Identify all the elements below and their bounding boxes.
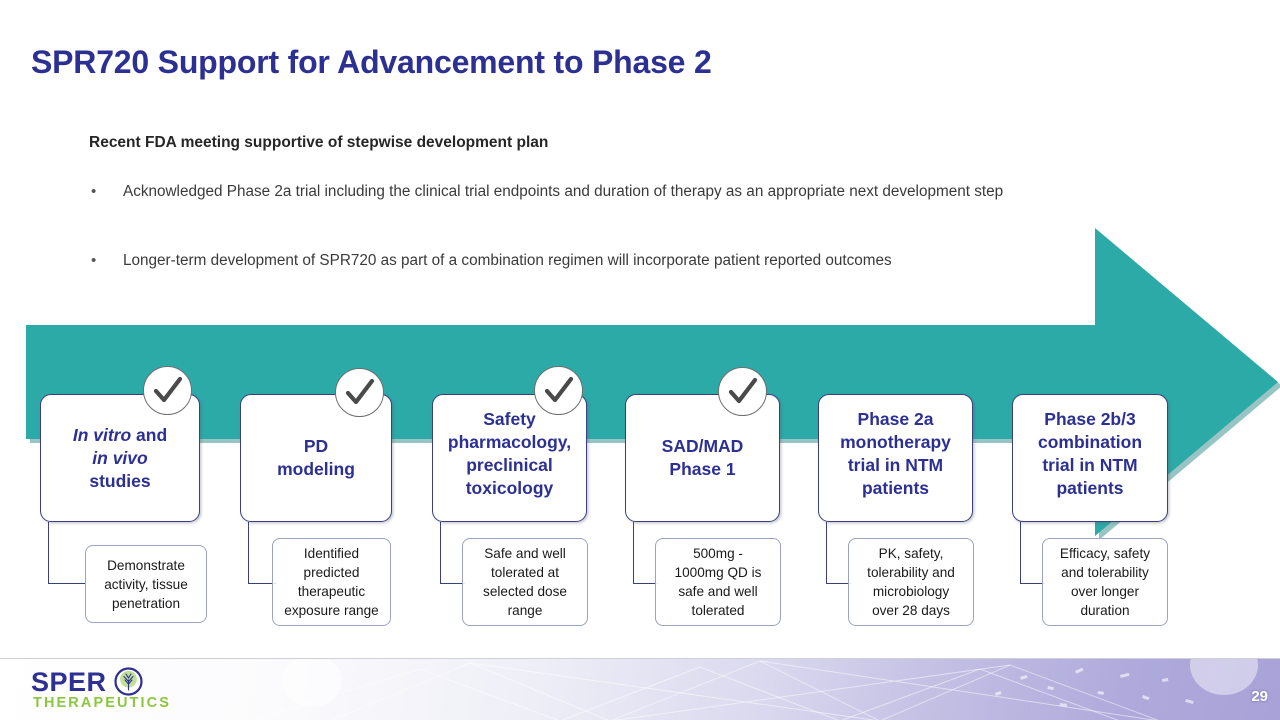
stage-label: Safety pharmacology, preclinical toxicol… xyxy=(437,408,582,500)
detail-box-stage-3: Safe and well tolerated at selected dose… xyxy=(462,538,588,626)
logo-wordmark: SPER xyxy=(31,668,107,696)
check-badge-icon-stage-1 xyxy=(143,366,192,415)
stage-box-phase-2a-monotherapy-trial[interactable]: Phase 2a monotherapy trial in NTM patien… xyxy=(818,394,973,522)
page-title: SPR720 Support for Advancement to Phase … xyxy=(31,44,712,81)
page-number: 29 xyxy=(1251,688,1268,705)
connector-stage-1 xyxy=(48,522,85,584)
detail-label: Identified predicted therapeutic exposur… xyxy=(278,544,385,620)
check-badge-icon-stage-4 xyxy=(718,367,767,416)
bullet-marker-icon: • xyxy=(89,180,123,203)
check-badge-icon-stage-2 xyxy=(335,368,384,417)
slide-canvas: SPR720 Support for Advancement to Phase … xyxy=(0,0,1280,720)
detail-label: 500mg - 1000mg QD is safe and well toler… xyxy=(661,544,775,620)
detail-label: Efficacy, safety and tolerability over l… xyxy=(1048,544,1162,620)
detail-label: Safe and well tolerated at selected dose… xyxy=(468,544,582,620)
tree-circle-icon xyxy=(114,667,143,696)
detail-box-stage-5: PK, safety, tolerability and microbiolog… xyxy=(848,538,974,626)
detail-box-stage-2: Identified predicted therapeutic exposur… xyxy=(272,538,391,626)
section-subheading: Recent FDA meeting supportive of stepwis… xyxy=(89,134,548,152)
detail-box-stage-1: Demonstrate activity, tissue penetration xyxy=(85,545,207,623)
spero-logo: SPER THERAPEUTICS xyxy=(31,668,261,714)
logo-tagline: THERAPEUTICS xyxy=(33,695,171,711)
bullet-text-1: Acknowledged Phase 2a trial including th… xyxy=(123,180,1003,203)
stage-box-phase-2b-3-combination-trial[interactable]: Phase 2b/3 combination trial in NTM pati… xyxy=(1012,394,1168,522)
bullet-item-1: • Acknowledged Phase 2a trial including … xyxy=(89,180,1069,203)
detail-box-stage-6: Efficacy, safety and tolerability over l… xyxy=(1042,538,1168,626)
stage-label: PD modeling xyxy=(245,435,387,481)
stage-label: Phase 2a monotherapy trial in NTM patien… xyxy=(823,408,968,500)
stage-label: Phase 2b/3 combination trial in NTM pati… xyxy=(1017,408,1163,500)
check-badge-icon-stage-3 xyxy=(534,366,583,415)
detail-box-stage-4: 500mg - 1000mg QD is safe and well toler… xyxy=(655,538,781,626)
detail-label: Demonstrate activity, tissue penetration xyxy=(91,556,201,613)
stage-label: In vitro andin vivostudies xyxy=(45,424,195,493)
detail-label: PK, safety, tolerability and microbiolog… xyxy=(854,544,968,620)
stage-label: SAD/MAD Phase 1 xyxy=(630,435,775,481)
